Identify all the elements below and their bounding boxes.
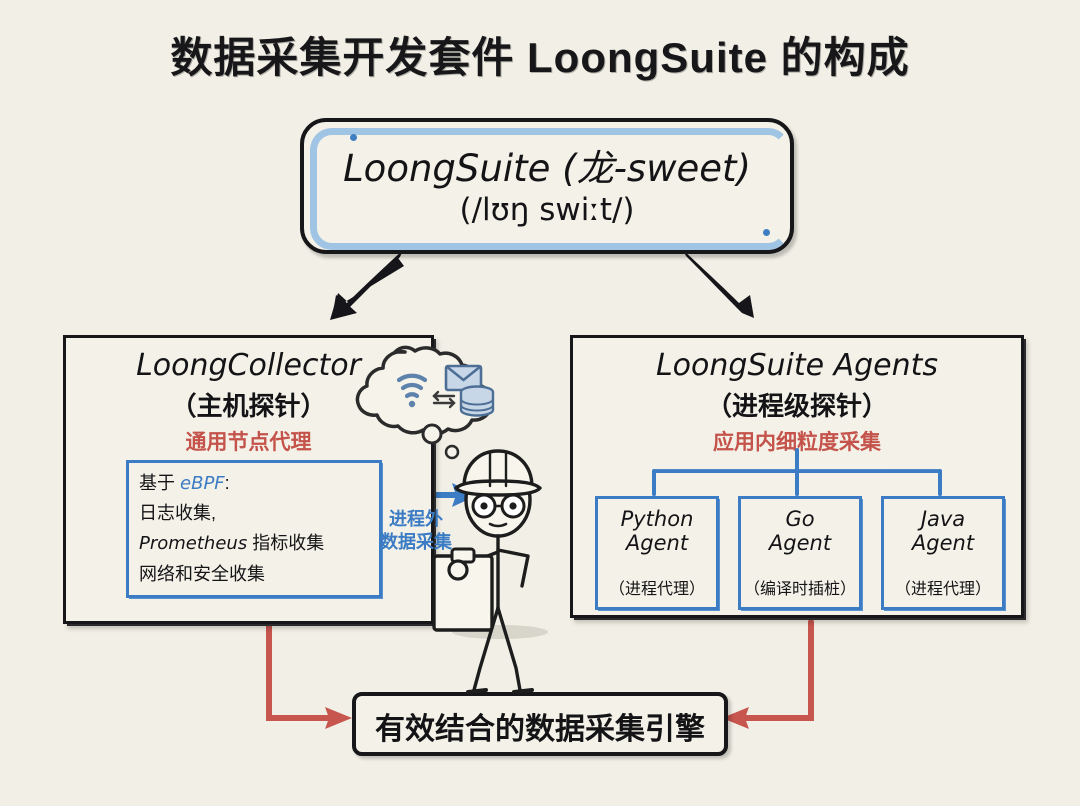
combined-engine-label: 有效结合的数据采集引擎 — [356, 704, 724, 748]
agent-name: Java Agent — [884, 507, 1002, 555]
loong-collector-panel[interactable]: LoongCollector （主机探针） 通用节点代理 基于 eBPF: 日志… — [63, 335, 434, 624]
page-title: 数据采集开发套件 LoongSuite 的构成 — [0, 24, 1080, 85]
loong-suite-agents-subtitle: （进程级探针） — [573, 386, 1021, 423]
agent-note: （编译时插桩） — [741, 575, 859, 599]
figure-shadow — [452, 625, 548, 639]
agent-name: Python Agent — [598, 507, 716, 555]
ebpf-line-4: 网络和安全收集 — [139, 560, 265, 586]
diagram-canvas: 数据采集开发套件 LoongSuite 的构成 LoongCollector — [0, 0, 1080, 806]
envelope-icon — [446, 366, 481, 390]
ebpf-line-1: 基于 eBPF: — [139, 469, 230, 495]
agent-box-java[interactable]: Java Agent （进程代理） — [881, 496, 1005, 610]
loong-suite-agents-panel[interactable]: LoongSuite Agents （进程级探针） 应用内细粒度采集 Pytho… — [570, 335, 1024, 618]
ebpf-line-1-suffix: : — [225, 473, 230, 493]
ebpf-line-2: 日志收集, — [139, 499, 216, 525]
out-of-process-label: 进程外 数据采集 — [373, 508, 459, 553]
prometheus-keyword: Prometheus — [139, 533, 247, 554]
loong-collector-title: LoongCollector — [66, 348, 431, 383]
ebpf-detail-box[interactable]: 基于 eBPF: 日志收集, Prometheus 指标收集 网络和安全收集 — [126, 460, 382, 598]
loong-collector-subtitle: （主机探针） — [66, 386, 431, 423]
agent-box-python[interactable]: Python Agent （进程代理） — [595, 496, 719, 610]
ebpf-line-1-prefix: 基于 — [139, 473, 180, 493]
database-icon — [461, 387, 493, 416]
loong-suite-agents-title: LoongSuite Agents — [573, 348, 1021, 383]
loong-suite-title-box[interactable]: LoongSuite (龙-sweet) (/lʊŋ swiːt/) — [300, 118, 794, 254]
agent-note: （进程代理） — [598, 575, 716, 599]
agent-box-go[interactable]: Go Agent （编译时插桩） — [738, 496, 862, 610]
loong-suite-pronunciation: (/lʊŋ swiːt/) — [304, 192, 790, 228]
ebpf-keyword: eBPF — [180, 473, 225, 494]
stick-figure — [434, 451, 540, 692]
loong-collector-tag: 通用节点代理 — [66, 426, 431, 456]
agent-tree-connector — [573, 448, 1021, 498]
exchange-arrows-icon — [434, 392, 454, 407]
loong-suite-name: LoongSuite (龙-sweet) — [304, 138, 790, 192]
agent-name: Go Agent — [741, 507, 859, 555]
combined-engine-box[interactable]: 有效结合的数据采集引擎 — [352, 692, 728, 756]
accent-dot-icon — [763, 229, 770, 236]
ebpf-line-3: Prometheus 指标收集 — [139, 529, 324, 555]
agent-note: （进程代理） — [884, 575, 1002, 599]
ebpf-line-3-suffix: 指标收集 — [247, 533, 324, 553]
